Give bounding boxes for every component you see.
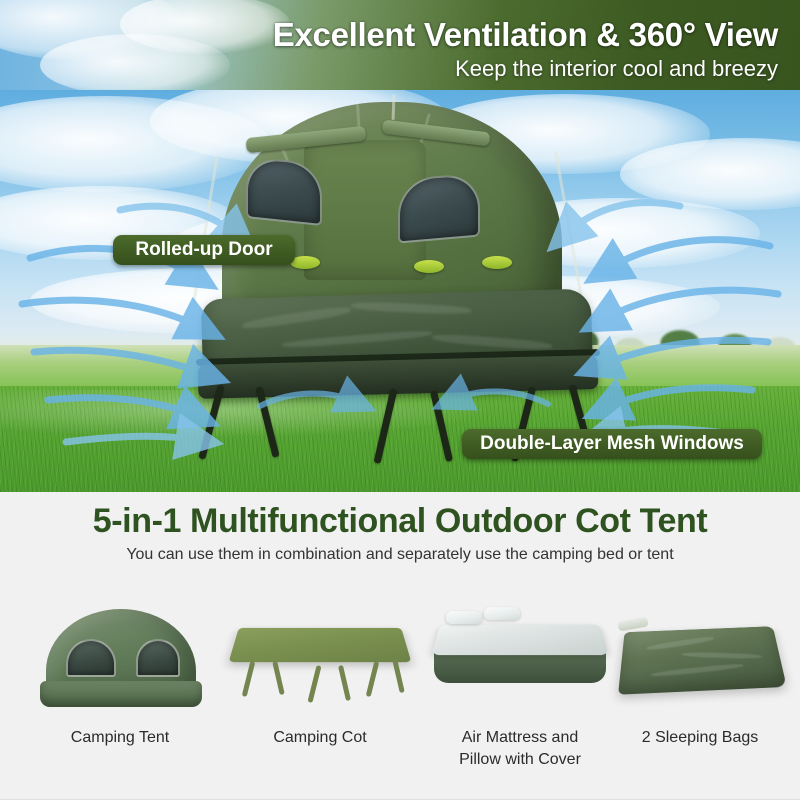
- product-item-camping-tent: Camping Tent: [20, 587, 220, 787]
- callout-label: Rolled-up Door: [135, 239, 272, 261]
- product-item-air-mattress: Air Mattress and Pillow with Cover: [420, 587, 620, 787]
- product-item-sleeping-bags: 2 Sleeping Bags: [600, 587, 800, 787]
- product-caption: Air Mattress and Pillow with Cover: [420, 727, 620, 770]
- sleeping-bag: [618, 626, 787, 694]
- product-grid: Camping Tent Camping Cot: [0, 587, 800, 787]
- cot-leg: [307, 665, 321, 703]
- panel-title: 5-in-1 Multifunctional Outdoor Cot Tent: [0, 502, 800, 541]
- cot-leg: [430, 390, 453, 462]
- header-band: Excellent Ventilation & 360° View Keep t…: [0, 0, 800, 90]
- tent-pole: [192, 155, 218, 304]
- header-subtitle: Keep the interior cool and breezy: [455, 56, 778, 82]
- cot-surface: [229, 628, 412, 662]
- sleeping-bag-liner: [617, 616, 648, 631]
- tent-window-right: [136, 639, 180, 677]
- mattress-top: [431, 624, 608, 655]
- callout-double-layer-mesh-windows: Double-Layer Mesh Windows: [462, 429, 762, 459]
- product-caption: 2 Sleeping Bags: [600, 727, 800, 749]
- sleeping-bags-image: [600, 587, 800, 722]
- features-panel: 5-in-1 Multifunctional Outdoor Cot Tent …: [0, 492, 800, 800]
- header-cloud-icon: [40, 34, 230, 90]
- cot-leg: [242, 661, 256, 697]
- camping-cot-image: [220, 587, 420, 722]
- tent-base: [40, 681, 202, 707]
- product-caption: Camping Cot: [220, 727, 420, 749]
- camping-tent-image: [20, 587, 220, 722]
- product-item-camping-cot: Camping Cot: [220, 587, 420, 787]
- product-marketing-image: Excellent Ventilation & 360° View Keep t…: [0, 0, 800, 800]
- callout-rolled-up-door: Rolled-up Door: [113, 235, 295, 265]
- header-title: Excellent Ventilation & 360° View: [273, 16, 778, 54]
- header-cloud-icon: [0, 0, 180, 60]
- tent-toggle-tab: [414, 260, 444, 273]
- cot-leg: [272, 661, 285, 695]
- cot-leg: [338, 665, 351, 701]
- callout-label: Double-Layer Mesh Windows: [480, 433, 744, 455]
- panel-subtitle: You can use them in combination and sepa…: [0, 546, 800, 564]
- tent-toggle-tab: [482, 256, 512, 269]
- pillow-right: [484, 607, 521, 620]
- cot-leg: [374, 388, 398, 464]
- header-cloud-icon: [120, 0, 290, 54]
- hero-photo: Rolled-up Door Double-Layer Mesh Windows…: [0, 90, 800, 492]
- pillow-left: [446, 611, 483, 624]
- cot-leg: [366, 661, 380, 697]
- air-mattress-image: [420, 587, 620, 722]
- cot-leg: [392, 659, 405, 693]
- product-caption: Camping Tent: [20, 727, 220, 749]
